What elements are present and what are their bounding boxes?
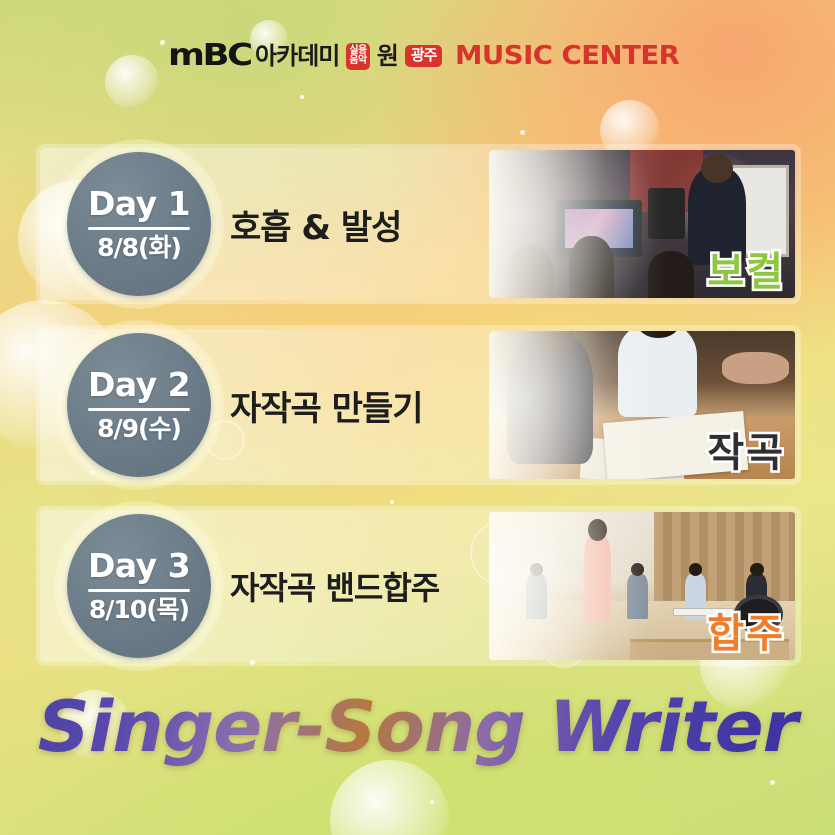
day2-label: Day 2 [88,368,190,403]
applied-music-chip: 실용 음악 [346,43,369,70]
day2-photo-badge: 작곡 [707,433,785,473]
brand-logo: mBC 아카데미 실용 음악 원 광주 MUSIC CENTER [0,38,835,74]
schedule-row-day1[interactable]: 보컬 Day 1 8/8(화) 호흡 & 발성 [40,148,797,300]
program-wordmark: Singer-Song Writer [0,686,835,768]
academy-label: 아카데미 [255,44,339,68]
mbc-logotype: mBC [168,41,251,71]
day2-photo: 작곡 [489,331,795,479]
day1-date: 8/8(화) [97,234,181,262]
day1-badge: Day 1 8/8(화) [54,139,224,309]
day2-divider [88,408,190,411]
day2-circle: Day 2 8/9(수) [67,333,211,477]
region-chip: 광주 [405,45,443,67]
schedule-row-day3[interactable]: 합주 Day 3 8/10(목) 자작곡 밴드합주 [40,510,797,662]
promo-poster: mBC 아카데미 실용 음악 원 광주 MUSIC CENTER 보컬 [0,0,835,835]
day1-photo: 보컬 [489,150,795,298]
music-center-label: MUSIC CENTER [455,43,679,69]
day3-photo-badge: 합주 [707,614,785,654]
day3-photo: 합주 [489,512,795,660]
day1-divider [88,227,190,230]
day3-date: 8/10(목) [89,596,189,624]
day2-badge: Day 2 8/9(수) [54,320,224,490]
day3-label: Day 3 [88,549,190,584]
schedule-list: 보컬 Day 1 8/8(화) 호흡 & 발성 작곡 [40,148,797,662]
day3-badge: Day 3 8/10(목) [54,501,224,671]
schedule-row-day2[interactable]: 작곡 Day 2 8/9(수) 자작곡 만들기 [40,329,797,481]
day2-date: 8/9(수) [97,415,181,443]
hagwon-label: 원 [377,44,398,68]
day1-circle: Day 1 8/8(화) [67,152,211,296]
chip-line-2: 음악 [349,56,366,67]
day1-label: Day 1 [88,187,190,222]
day1-photo-badge: 보컬 [707,252,785,292]
day3-divider [88,589,190,592]
day3-circle: Day 3 8/10(목) [67,514,211,658]
